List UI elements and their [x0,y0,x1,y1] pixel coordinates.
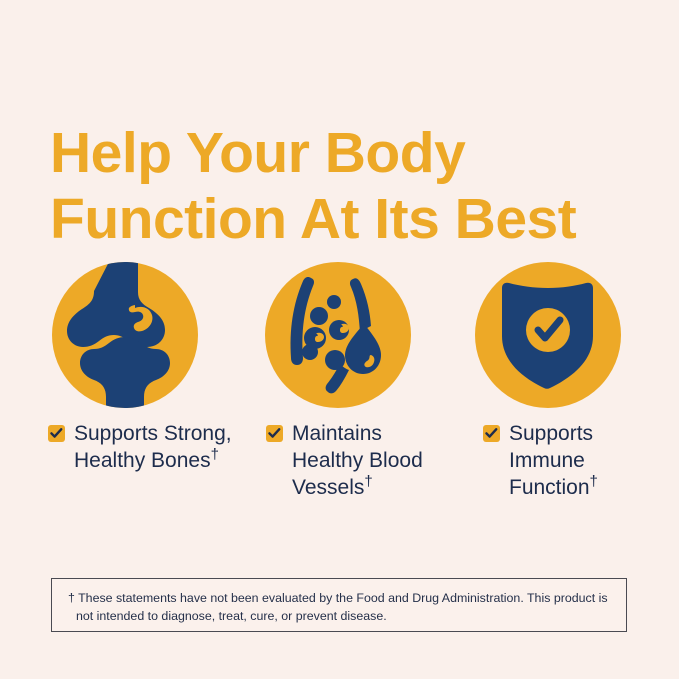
benefit-list: Supports Strong, Healthy Bones† [0,262,679,512]
benefit-label-immune-text: Supports Immune Function [509,422,593,499]
disclaimer-box: † These statements have not been evaluat… [51,578,627,632]
benefit-label-blood-vessels: Maintains Healthy Blood Vessels† [292,420,447,501]
benefit-label-blood-vessels-text: Maintains Healthy Blood Vessels [292,422,423,499]
benefit-label-immune: Supports Immune Function† [509,420,657,501]
benefit-label-bones-text: Supports Strong, Healthy Bones [74,422,232,472]
benefit-text-row-blood-vessels: Maintains Healthy Blood Vessels† [266,420,447,501]
dagger-symbol: † [364,473,372,490]
checkmark-icon [266,425,283,442]
benefit-label-bones: Supports Strong, Healthy Bones† [74,420,237,474]
promo-graphic: Help Your Body Function At Its Best [0,0,679,679]
disclaimer-text: † These statements have not been evaluat… [68,589,612,625]
headline-line-2: Function At Its Best [50,186,650,252]
benefit-text-row-bones: Supports Strong, Healthy Bones† [48,420,237,474]
benefit-text-row-immune: Supports Immune Function† [483,420,657,501]
benefit-item-blood-vessels: Maintains Healthy Blood Vessels† [237,262,447,408]
dagger-symbol: † [590,473,598,490]
dagger-symbol: † [211,446,219,463]
page-title: Help Your Body Function At Its Best [50,120,650,252]
headline-line-1: Help Your Body [50,120,650,186]
checkmark-icon [48,425,65,442]
checkmark-icon [483,425,500,442]
bone-joint-icon [52,262,198,408]
benefit-item-bones: Supports Strong, Healthy Bones† [27,262,237,408]
shield-check-icon [475,262,621,408]
benefit-item-immune: Supports Immune Function† [447,262,657,408]
blood-vessel-icon [265,262,411,408]
